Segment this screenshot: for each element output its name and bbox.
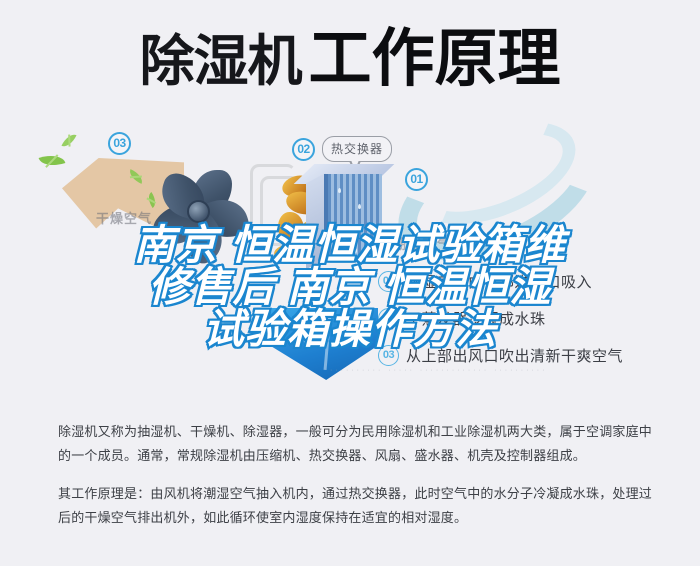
- fan-icon: [152, 164, 248, 260]
- water-droplet-icon: [358, 204, 361, 209]
- dry-air-label: 干燥空气: [96, 208, 152, 227]
- page-title-part-b: 工作原理: [309, 24, 561, 94]
- moist-air-label: 潮湿空气: [392, 234, 452, 254]
- leaf-icon: [39, 151, 66, 171]
- heat-exchanger-unit: [318, 164, 390, 264]
- heat-exchanger-callout: 热交换器: [322, 136, 392, 162]
- water-droplet-icon: [370, 238, 373, 243]
- water-tank-label: 水箱: [300, 326, 328, 345]
- dehumidifier-diagram: 干燥空气 03 02 01 热交换器: [0, 120, 700, 405]
- water-droplet-icon: [338, 188, 341, 193]
- heat-exchanger-callout-label: 热交换器: [331, 142, 383, 156]
- fan-hub-icon: [187, 200, 210, 223]
- step-marker-03: 03: [108, 132, 131, 155]
- diagram-legend: 01 潮湿空气由下部进风口吸入 02 于蒸发器冷凝成水珠 03 从上部出风口吹出…: [378, 270, 698, 381]
- step-marker-02: 02: [292, 138, 315, 161]
- heat-exchanger-fins: [324, 174, 382, 262]
- legend-text-01: 潮湿空气由下部进风口吸入: [406, 271, 592, 292]
- water-droplet-icon: [346, 224, 349, 229]
- site-watermark: ·········· ····· ············· ·········…: [330, 367, 660, 374]
- page-title-part-a: 除湿机: [139, 30, 301, 92]
- legend-number-02: 02: [378, 308, 399, 329]
- legend-number-01: 01: [378, 271, 399, 292]
- article-body: 除湿机又称为抽湿机、干燥机、除湿器，一般可分为民用除湿机和工业除湿机两大类，属于…: [58, 420, 658, 530]
- body-paragraph-2: 其工作原理是：由风机将潮湿空气抽入机内，通过热交换器，此时空气中的水分子冷凝成水…: [58, 482, 658, 530]
- legend-text-02: 于蒸发器冷凝成水珠: [406, 308, 546, 329]
- body-paragraph-1: 除湿机又称为抽湿机、干燥机、除湿器，一般可分为民用除湿机和工业除湿机两大类，属于…: [58, 420, 658, 468]
- heat-exchanger-side: [306, 173, 326, 270]
- page-root: 除湿机工作原理 干燥空气 03 02 01 热交换器: [0, 0, 700, 566]
- legend-row: 01 潮湿空气由下部进风口吸入: [378, 270, 698, 292]
- legend-number-03: 03: [378, 345, 399, 366]
- legend-row: 02 于蒸发器冷凝成水珠: [378, 307, 698, 329]
- water-droplet-icon: [354, 248, 357, 253]
- legend-row: 03 从上部出风口吹出清新干爽空气: [378, 344, 698, 366]
- leaf-icon: [61, 131, 76, 149]
- legend-text-03: 从上部出风口吹出清新干爽空气: [406, 345, 623, 366]
- step-marker-01: 01: [405, 168, 428, 191]
- page-title: 除湿机工作原理: [0, 28, 700, 91]
